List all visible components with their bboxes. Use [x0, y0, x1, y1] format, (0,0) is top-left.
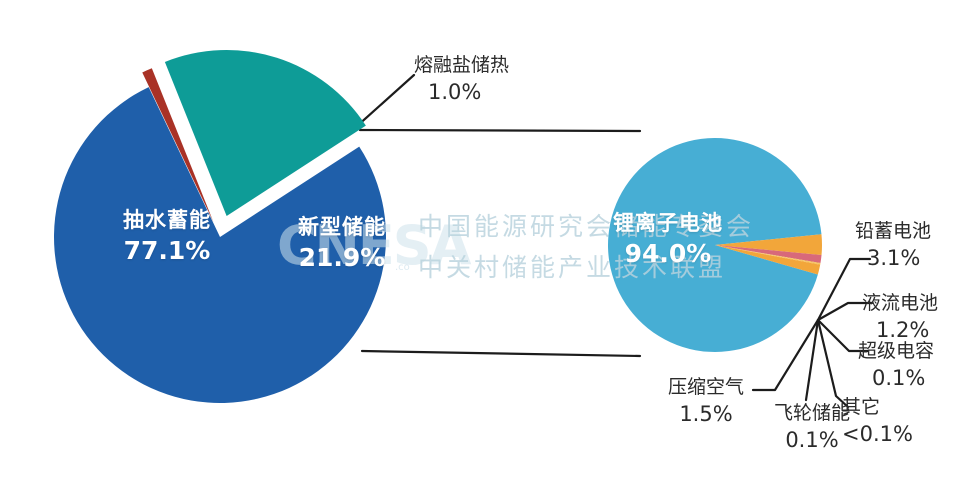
- leader-lead-acid: [818, 259, 870, 320]
- leader-other: [818, 320, 848, 407]
- pie-chart-svg: [0, 0, 960, 499]
- chart-canvas: CNESA .co 中国能源研究会储能专委会 中关村储能产业技术联盟 抽水蓄能 …: [0, 0, 960, 499]
- connector-lines: [356, 75, 640, 356]
- connector-upper: [360, 130, 640, 131]
- right-pie-group: [608, 138, 822, 352]
- leader-molten-salt: [356, 75, 414, 127]
- leader-supercap: [818, 320, 868, 351]
- connector-lower: [362, 351, 640, 356]
- left-pie-group: [54, 50, 386, 403]
- leader-flywheel: [806, 320, 818, 400]
